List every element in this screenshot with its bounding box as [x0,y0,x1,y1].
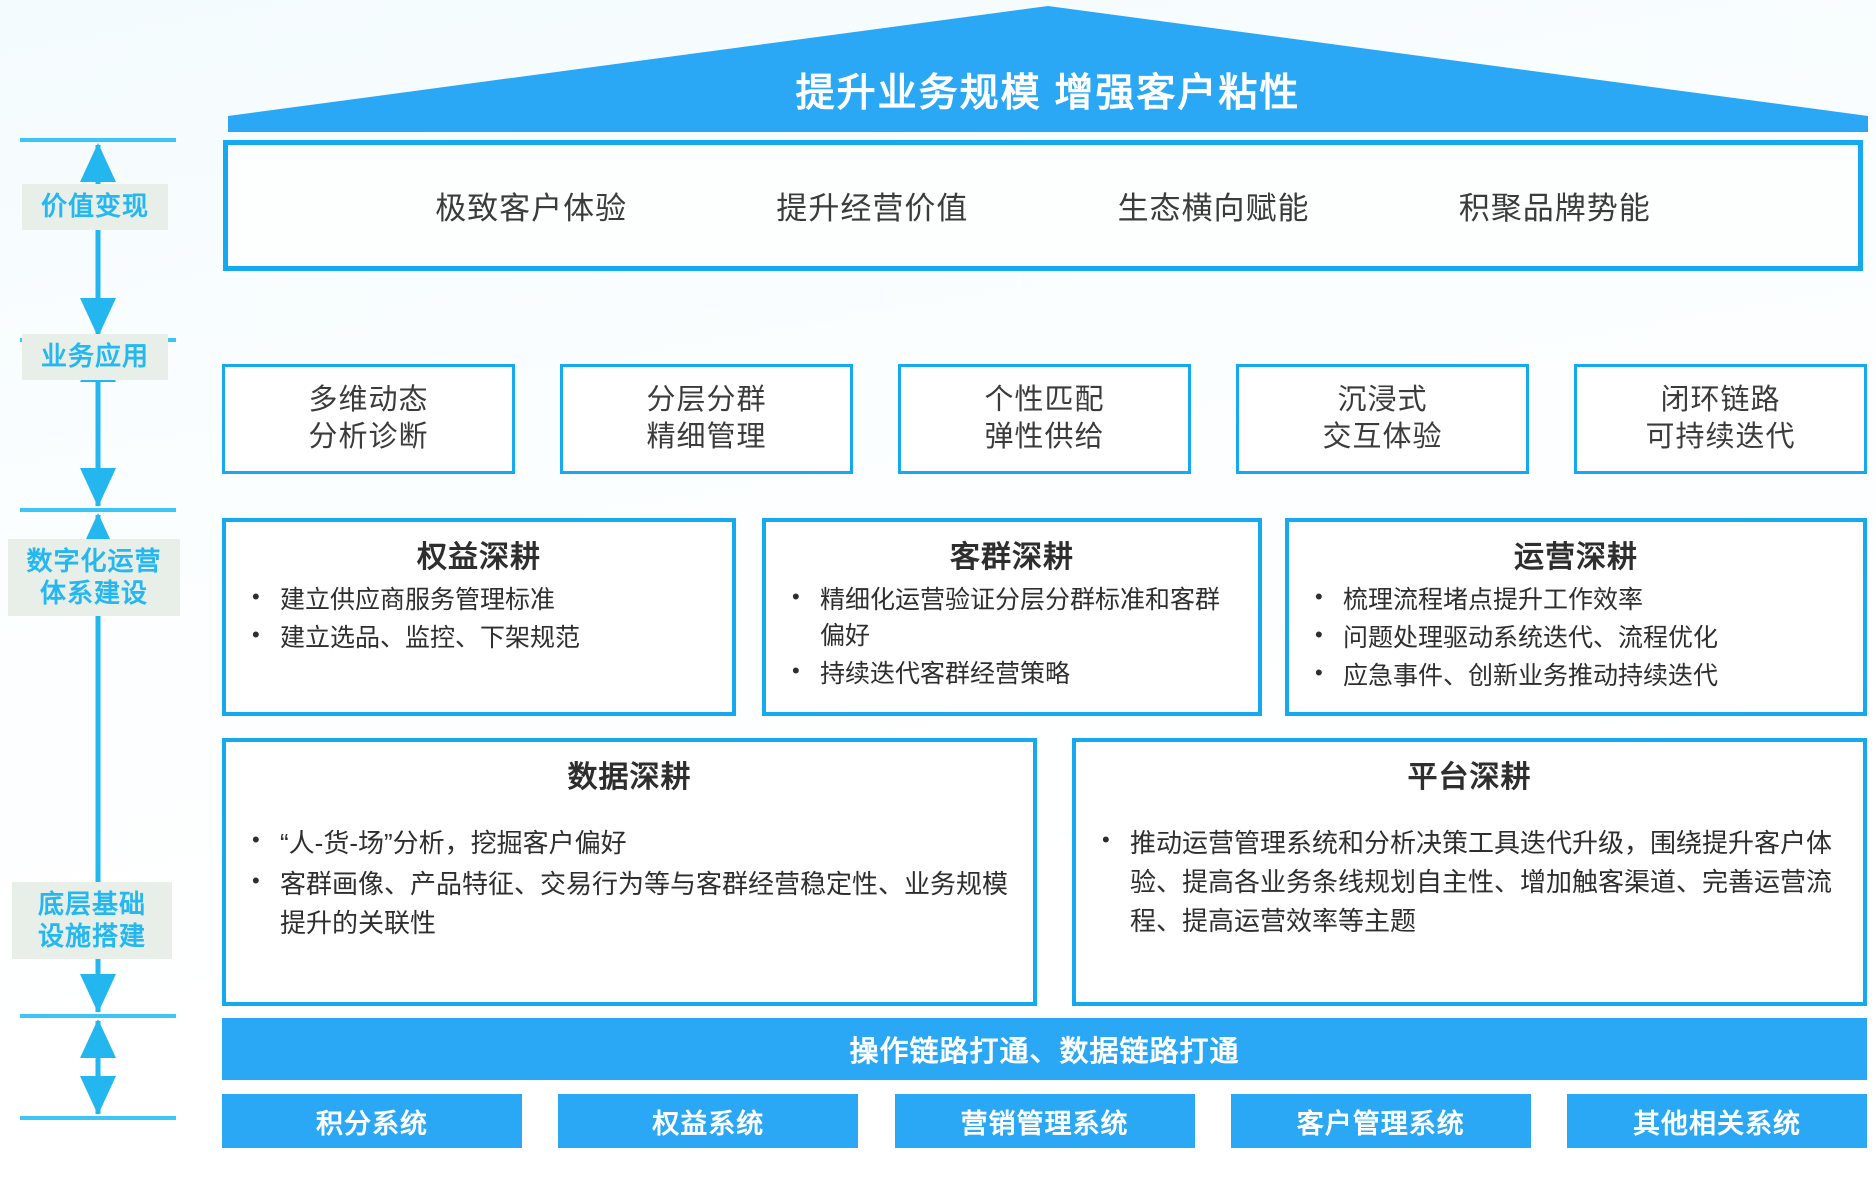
system-chip-marketing[interactable]: 营销管理系统 [895,1094,1195,1148]
app-card-line1: 闭环链路 [1660,382,1780,419]
deep-card-platform[interactable]: 平台深耕 推动运营管理系统和分析决策工具迭代升级，围绕提升客户体验、提高各业务条… [1072,738,1867,1006]
roof-banner: 提升业务规模 增强客户粘性 [228,6,1868,132]
system-chip-other[interactable]: 其他相关系统 [1567,1094,1867,1148]
axis-label-business-application: 业务应用 [22,334,168,380]
app-card-line2: 交互体验 [1322,419,1442,456]
app-card-line1: 多维动态 [308,382,428,419]
diagram-canvas: 提升业务规模 增强客户粘性 [0,0,1876,1186]
app-card-line1: 分层分群 [646,382,766,419]
deep-card-title: 数据深耕 [240,752,1019,796]
business-app-card[interactable]: 分层分群 精细管理 [560,364,853,474]
bullet-item: 建立选品、监控、下架规范 [240,620,718,656]
bullet-item: 建立供应商服务管理标准 [240,582,718,618]
value-item: 极致客户体验 [435,183,627,228]
app-card-line2: 分析诊断 [308,419,428,456]
deep-card-bullets: 推动运营管理系统和分析决策工具迭代升级，围绕提升客户体验、提高各业务条线规划自主… [1090,824,1849,941]
value-item: 积聚品牌势能 [1459,183,1651,228]
bullet-item: 应急事件、创新业务推动持续迭代 [1303,658,1849,694]
deep-card-title: 客群深耕 [780,532,1244,576]
bullet-item: 问题处理驱动系统迭代、流程优化 [1303,620,1849,656]
deep-card-title: 平台深耕 [1090,752,1849,796]
business-app-card[interactable]: 个性匹配 弹性供给 [898,364,1191,474]
roof-shape-icon [228,6,1868,132]
deep-card-customer-group[interactable]: 客群深耕 精细化运营验证分层分群标准和客群偏好 持续迭代客群经营策略 [762,518,1262,716]
deep-card-bullets: 梳理流程堵点提升工作效率 问题处理驱动系统迭代、流程优化 应急事件、创新业务推动… [1303,582,1849,694]
deep-cultivation-row-1: 权益深耕 建立供应商服务管理标准 建立选品、监控、下架规范 客群深耕 精细化运营… [222,518,1867,716]
app-card-line2: 可持续迭代 [1645,419,1795,456]
value-realization-band: 极致客户体验 提升经营价值 生态横向赋能 积聚品牌势能 [223,140,1863,271]
bullet-item: 持续迭代客群经营策略 [780,656,1244,692]
axis-label-infrastructure: 底层基础 设施搭建 [12,882,172,959]
deep-card-bullets: “人-货-场”分析，挖掘客户偏好 客群画像、产品特征、交易行为等与客群经营稳定性… [240,824,1019,943]
deep-card-operations[interactable]: 运营深耕 梳理流程堵点提升工作效率 问题处理驱动系统迭代、流程优化 应急事件、创… [1285,518,1867,716]
app-card-line1: 沉浸式 [1337,382,1427,419]
bullet-item: 梳理流程堵点提升工作效率 [1303,582,1849,618]
deep-card-title: 权益深耕 [240,532,718,576]
app-card-line2: 精细管理 [646,419,766,456]
app-card-line1: 个性匹配 [984,382,1104,419]
value-item: 提升经营价值 [776,183,968,228]
value-item: 生态横向赋能 [1118,183,1310,228]
deep-cultivation-row-2: 数据深耕 “人-货-场”分析，挖掘客户偏好 客群画像、产品特征、交易行为等与客群… [222,738,1867,1006]
deep-card-bullets: 建立供应商服务管理标准 建立选品、监控、下架规范 [240,582,718,656]
axis-label-digital-operations: 数字化运营 体系建设 [8,539,180,616]
deep-card-data[interactable]: 数据深耕 “人-货-场”分析，挖掘客户偏好 客群画像、产品特征、交易行为等与客群… [222,738,1037,1006]
bullet-item: 客群画像、产品特征、交易行为等与客群经营稳定性、业务规模提升的关联性 [240,865,1019,943]
business-app-card[interactable]: 沉浸式 交互体验 [1236,364,1529,474]
business-app-card[interactable]: 闭环链路 可持续迭代 [1574,364,1867,474]
system-chip-rights[interactable]: 权益系统 [558,1094,858,1148]
system-chip-customer[interactable]: 客户管理系统 [1231,1094,1531,1148]
deep-card-bullets: 精细化运营验证分层分群标准和客群偏好 持续迭代客群经营策略 [780,582,1244,692]
business-app-card[interactable]: 多维动态 分析诊断 [222,364,515,474]
bullet-item: 精细化运营验证分层分群标准和客群偏好 [780,582,1244,654]
bullet-item: “人-货-场”分析，挖掘客户偏好 [240,824,1019,863]
bullet-item: 推动运营管理系统和分析决策工具迭代升级，围绕提升客户体验、提高各业务条线规划自主… [1090,824,1849,941]
axis-label-value-realization: 价值变现 [22,184,168,230]
app-card-line2: 弹性供给 [984,419,1104,456]
system-chip-points[interactable]: 积分系统 [222,1094,522,1148]
deep-card-title: 运营深耕 [1303,532,1849,576]
business-application-row: 多维动态 分析诊断 分层分群 精细管理 个性匹配 弹性供给 沉浸式 交互体验 闭… [222,364,1867,474]
system-chip-row: 积分系统 权益系统 营销管理系统 客户管理系统 其他相关系统 [222,1094,1867,1148]
deep-card-rights[interactable]: 权益深耕 建立供应商服务管理标准 建立选品、监控、下架规范 [222,518,736,716]
foundation-link-bar: 操作链路打通、数据链路打通 [222,1018,1867,1080]
